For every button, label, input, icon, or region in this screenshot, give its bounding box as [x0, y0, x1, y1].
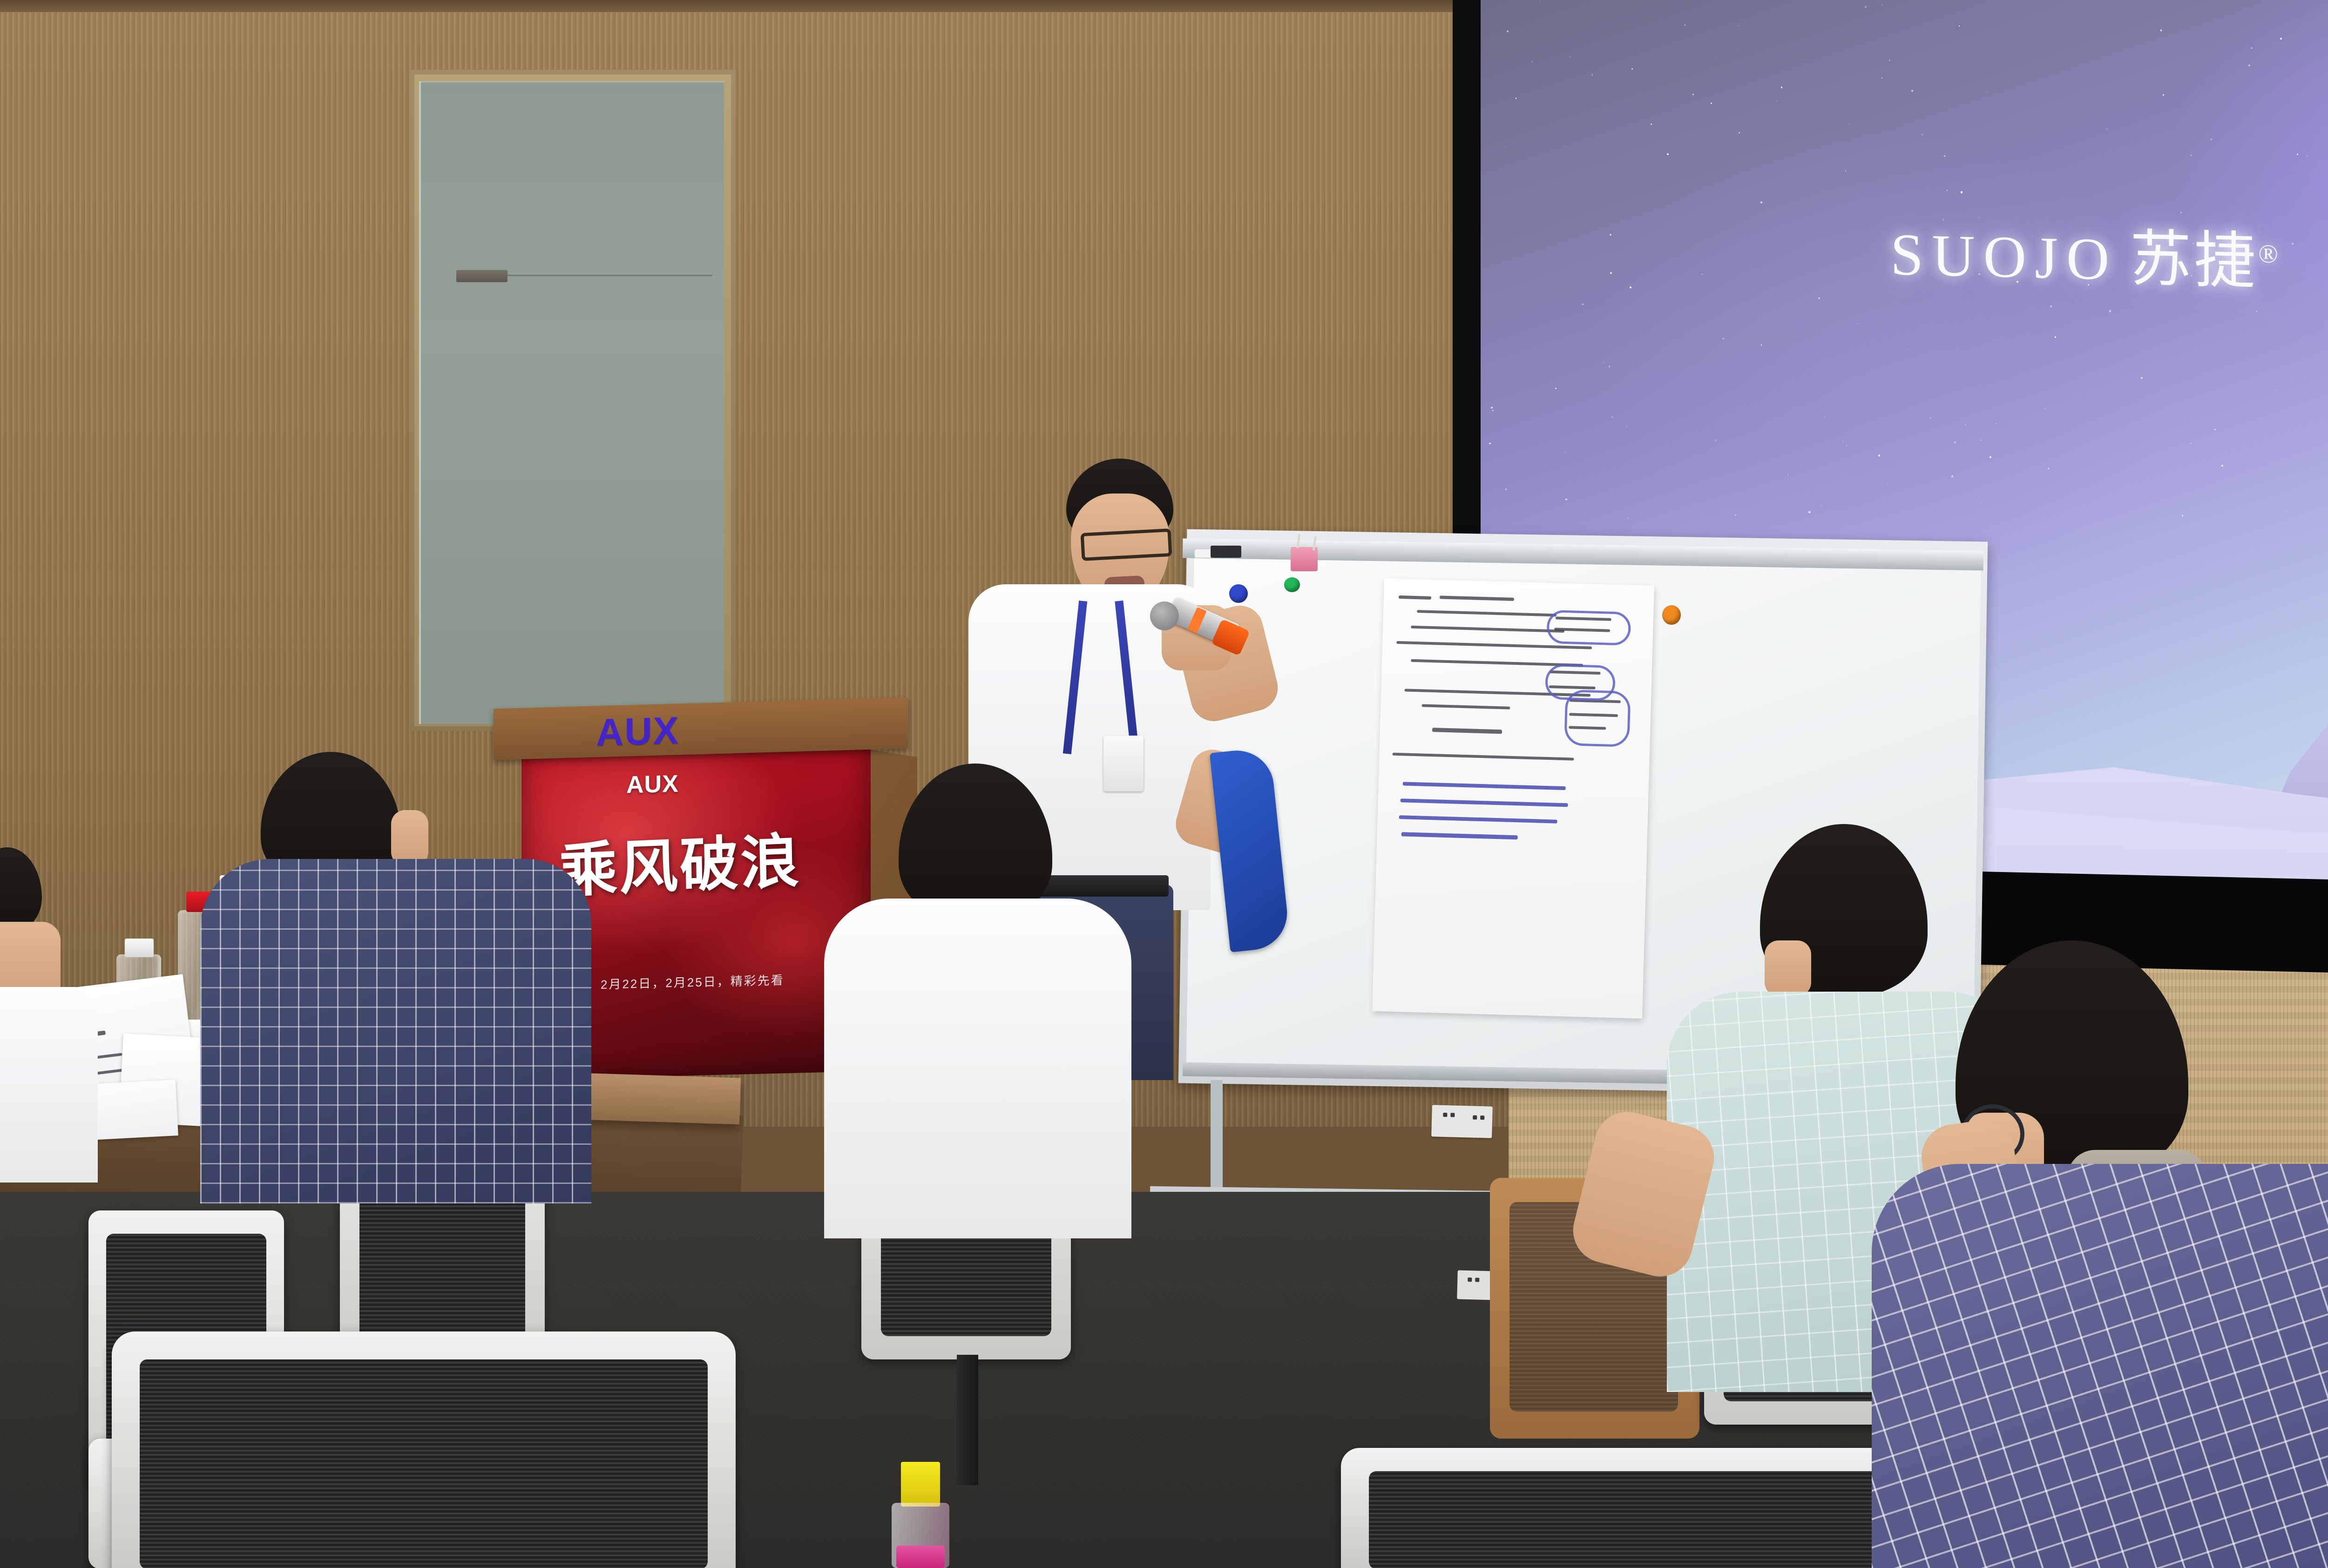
banner-aux-logo: AUX	[626, 770, 679, 799]
flip-chart-sheet[interactable]	[1372, 578, 1654, 1019]
presenter-glasses	[1081, 528, 1172, 561]
frosted-glass-door[interactable]	[410, 70, 736, 731]
magnet-blue[interactable]	[1229, 584, 1248, 603]
brand-registered-mark: ®	[2258, 239, 2278, 269]
conference-room-photo: SUOJO苏捷® MAC	[0, 0, 2328, 1568]
podium-name-plate: AUX	[596, 709, 679, 755]
door-handle[interactable]	[456, 270, 508, 282]
binder-clip-arms	[1296, 534, 1317, 550]
brand-latin: SUOJO	[1890, 221, 2118, 292]
magnet-orange[interactable]	[1662, 605, 1681, 625]
presenter-badge	[1103, 736, 1144, 791]
starfield	[1481, 0, 2328, 1]
binder-clip[interactable]	[1291, 547, 1318, 571]
board-eraser[interactable]	[1211, 546, 1241, 558]
door-glass-panel	[419, 81, 724, 724]
magnet-green[interactable]	[1284, 577, 1300, 592]
ceiling-edge	[0, 0, 1536, 12]
power-outlet-upper[interactable]	[1431, 1105, 1493, 1138]
brand-chinese: 苏捷	[2130, 225, 2258, 296]
microphone-head	[1150, 602, 1179, 630]
screen-brand-title: SUOJO苏捷®	[1890, 203, 2278, 301]
